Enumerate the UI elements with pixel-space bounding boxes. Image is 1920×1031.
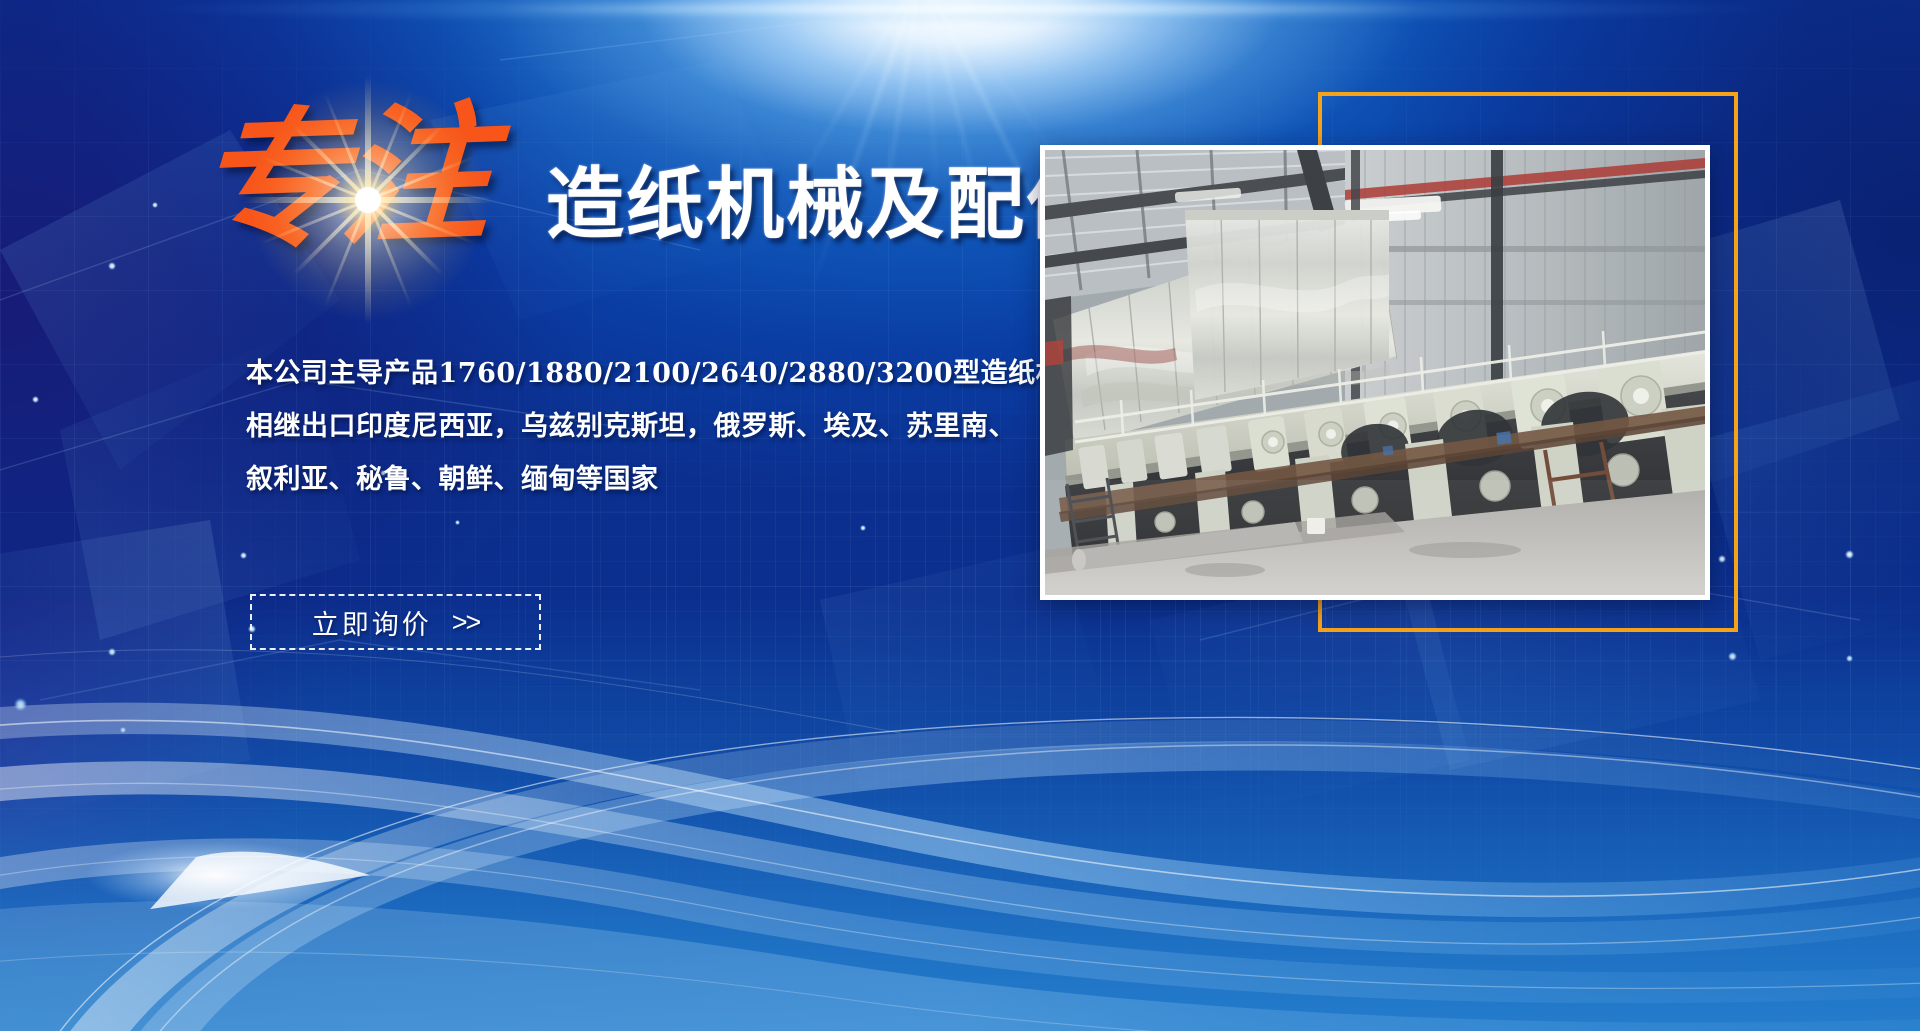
description-line: 本公司主导产品1760/1880/2100/2640/2880/3200型造纸机 [246,360,1006,387]
inquiry-cta-label: 立即询价 [312,603,432,642]
page-title: 造纸机械及配件 [546,166,1106,244]
headline-accent-text: 专注 [192,99,489,259]
paper-machine-line-illustration [1045,150,1705,595]
banner-content: 专注 [0,0,1000,1031]
hero-banner: 专注 [0,0,1920,1031]
inquiry-cta-button[interactable]: 立即询价 >> [250,594,541,650]
sparkle-dot [1845,550,1854,559]
double-chevron-right-icon: >> [452,607,480,638]
description-block: 本公司主导产品1760/1880/2100/2640/2880/3200型造纸机… [246,360,1006,519]
description-line: 叙利亚、秘鲁、朝鲜、缅甸等国家 [246,466,1006,493]
product-photo-frame[interactable] [1040,145,1710,600]
headline-group: 专注 [196,104,896,294]
product-photo [1045,150,1705,595]
description-line: 相继出口印度尼西亚，乌兹别克斯坦，俄罗斯、埃及、苏里南、 [246,413,1006,440]
sparkle-dot [1718,555,1726,563]
